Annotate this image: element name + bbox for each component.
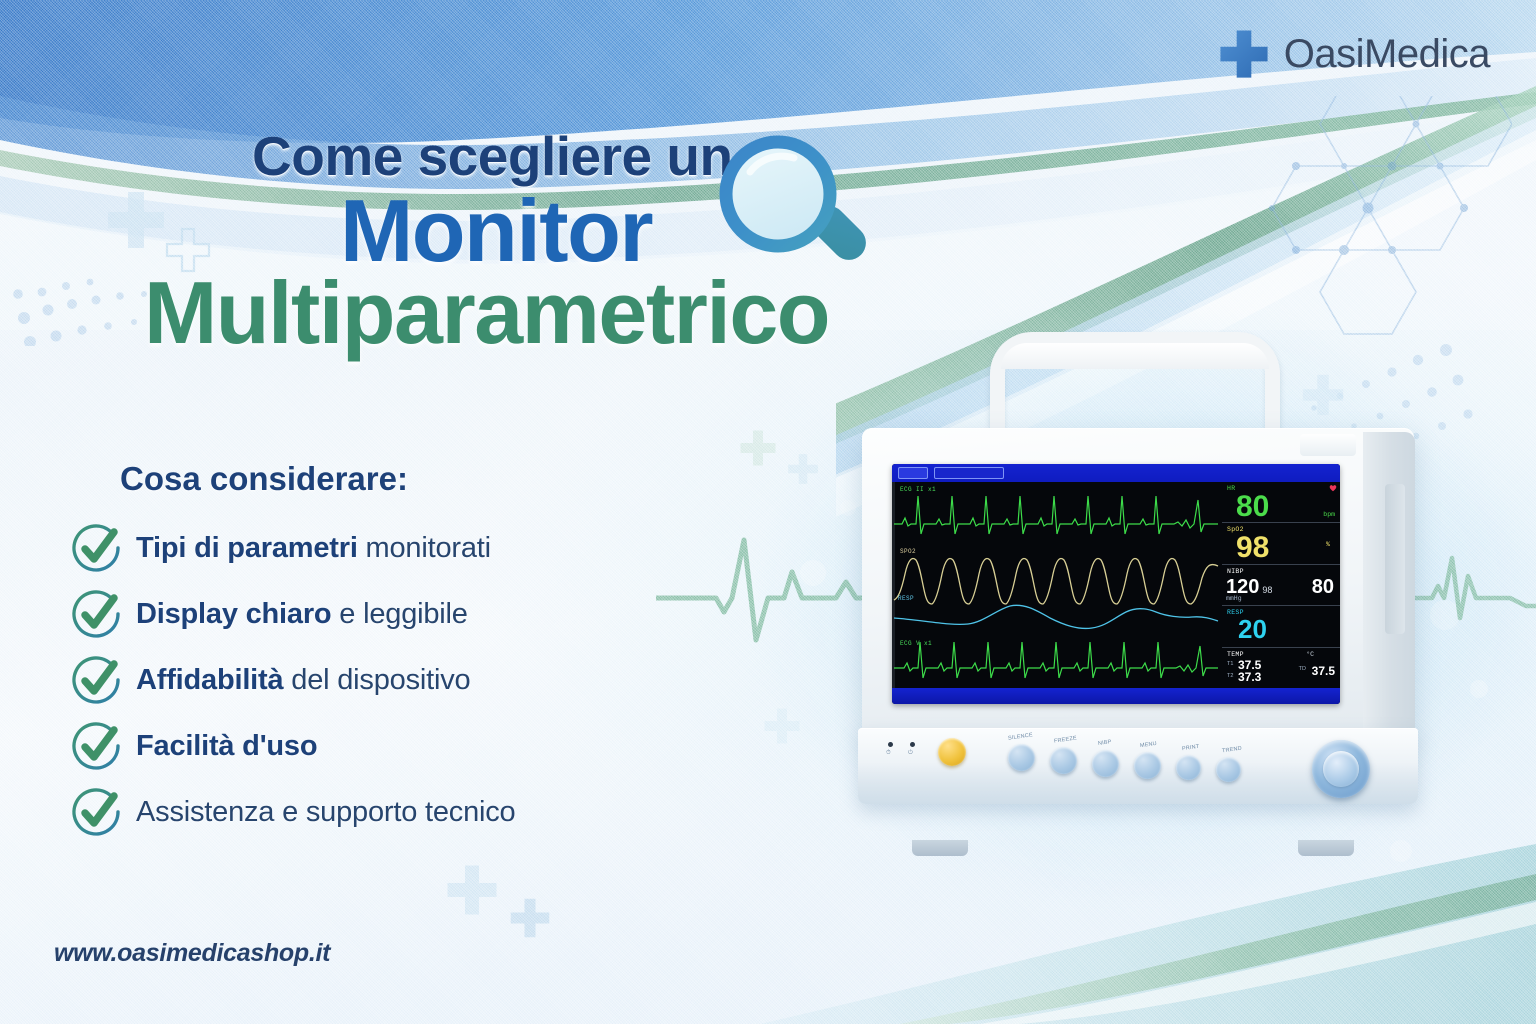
vital-unit-nibp: mmHg [1226,595,1242,602]
check-circle-icon [70,719,124,773]
vital-value-hr: 80 [1236,492,1269,522]
button-freeze[interactable] [1050,747,1077,774]
waveform-label-pleth: SPO2 [900,548,916,555]
temp-tag-t2: T2 [1227,673,1233,679]
vital-nibp-systolic: 120 [1226,577,1259,597]
monitor-screen[interactable]: ECG II x1 SPO2 RESP ECG V x1 HR 80 bpm [892,464,1340,704]
button-silence[interactable] [1008,744,1035,771]
list-item-text: Facilità d'uso [136,730,317,763]
medical-cross-decoration [738,428,778,468]
checklist-heading: Cosa considerare: [120,460,690,498]
rotary-knob[interactable] [1312,740,1370,798]
button-menu[interactable] [1134,752,1161,779]
status-chip [934,467,1004,479]
list-item: Facilità d'uso [70,716,690,776]
list-item-rest: monitorati [358,532,491,564]
vitals-panel: HR 80 bpm SpO2 98 % NIBP [1222,482,1340,688]
vital-value-resp: 20 [1238,616,1267,642]
power-led [910,742,915,747]
monitor-control-panel: ⏱ ⏻ SILENCE FREEZE NIBP MENU PRINT TREND [858,728,1418,804]
vital-heart-rate[interactable]: HR 80 bpm [1222,482,1340,522]
list-item-text: Display chiaro e leggibile [136,598,468,631]
check-circle-icon [70,785,124,839]
button-nibp[interactable] [1092,750,1119,777]
list-item-bold: Facilità d'uso [136,730,317,762]
button-trend-label: TREND [1222,746,1243,755]
check-circle-icon [70,653,124,707]
brand-name: OasiMedica [1284,32,1490,77]
list-item-bold: Tipi di parametri [136,532,358,564]
poster-canvas: OasiMedica Come scegliere un Monitor Mul… [0,0,1536,1024]
button-print-label: PRINT [1182,744,1200,752]
list-item: Display chiaro e leggibile [70,584,690,644]
list-item: Assistenza e supporto tecnico [70,782,690,842]
power-button[interactable] [938,738,966,766]
list-item-text: Assistenza e supporto tecnico [136,796,515,829]
list-item-bold: Affidabilità [136,664,283,696]
vital-temperature[interactable]: TEMP °C T1 37.5 T2 37.3 TD 37.5 [1222,647,1340,688]
waveform-label-ecg-top: ECG II x1 [900,486,936,493]
button-silence-label: SILENCE [1008,732,1034,741]
vital-unit-hr: bpm [1323,511,1335,518]
screen-status-bar [892,464,1340,482]
medical-cross-icon [1218,28,1270,80]
waveform-label-ecg-bottom: ECG V x1 [900,640,932,647]
screen-bottom-bar [892,688,1340,704]
vital-unit-temp: °C [1306,651,1314,658]
list-item-bold: Display chiaro [136,598,331,630]
vital-unit-spo2: % [1326,541,1330,548]
button-print[interactable] [1176,755,1201,780]
monitor-body: ECG II x1 SPO2 RESP ECG V x1 HR 80 bpm [862,428,1414,736]
monitor-top-notch [1300,434,1356,456]
vital-tag-temp: TEMP [1227,651,1335,658]
check-circle-icon [70,521,124,575]
heart-alarm-icon [1329,484,1337,492]
vital-respiration[interactable]: RESP 20 [1222,605,1340,646]
temp-value-t2: 37.3 [1238,670,1261,684]
monitor-side-panel [1363,432,1415,732]
vital-tag-nibp: NIBP [1227,568,1335,575]
vital-nibp-mean: 98 [1262,585,1272,595]
molecule-hexagon-pattern [1212,96,1512,356]
list-item: Affidabilità del dispositivo [70,650,690,710]
patient-monitor: ECG II x1 SPO2 RESP ECG V x1 HR 80 bpm [852,332,1422,842]
alarm-led [888,742,893,747]
checklist-section: Cosa considerare: Tipi di parametri moni… [70,460,690,848]
list-item-text: Tipi di parametri monitorati [136,532,491,565]
vital-nibp-diastolic: 80 [1312,577,1334,597]
website-url[interactable]: www.oasimedicashop.it [54,939,330,968]
medical-cross-decoration [786,452,820,486]
monitor-vent [1385,484,1405,634]
list-item-rest: Assistenza e supporto tecnico [136,796,515,828]
button-menu-label: MENU [1140,741,1158,749]
waveform-area [892,482,1220,688]
monitor-foot [1298,840,1354,856]
brand-logo[interactable]: OasiMedica [1218,28,1490,80]
temp-tag-t1: T1 [1227,661,1233,667]
vital-value-spo2: 98 [1236,533,1269,563]
button-nibp-label: NIBP [1098,739,1112,747]
alarm-led-label: ⏱ [886,750,891,757]
magnifier-icon [712,132,888,290]
vital-spo2[interactable]: SpO2 98 % [1222,522,1340,563]
power-led-label: ⏻ [908,750,913,757]
waveform-label-resp: RESP [898,595,914,602]
temp-value-td: 37.5 [1312,664,1335,678]
list-item-rest: del dispositivo [283,664,470,696]
list-item-rest: e leggibile [331,598,467,630]
status-chip [898,467,928,479]
temp-tag-td: TD [1299,666,1306,672]
list-item-text: Affidabilità del dispositivo [136,664,470,697]
button-trend[interactable] [1216,757,1241,782]
button-freeze-label: FREEZE [1054,735,1078,744]
list-item: Tipi di parametri monitorati [70,518,690,578]
monitor-foot [912,840,968,856]
vital-nibp[interactable]: NIBP 120 98 80 mmHg [1222,564,1340,605]
check-circle-icon [70,587,124,641]
monitor-carry-handle[interactable] [990,332,1280,436]
